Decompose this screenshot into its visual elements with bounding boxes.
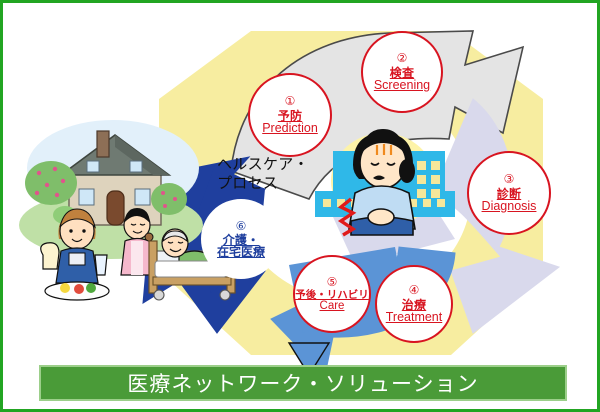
step-4-jp: 治療 bbox=[402, 299, 426, 311]
step-3-jp: 診断 bbox=[497, 188, 521, 200]
step-circle-3[interactable]: ③ 診断 Diagnosis bbox=[467, 151, 551, 235]
diagram-canvas: ヘルスケア・ プロセス ① 予防 Prediction ② 検査 Screeni… bbox=[0, 0, 600, 412]
step-circle-1[interactable]: ① 予防 Prediction bbox=[248, 73, 332, 157]
step-3-en: Diagnosis bbox=[482, 200, 537, 213]
step-5-en: Care bbox=[320, 301, 345, 313]
step-2-en: Screening bbox=[374, 79, 430, 92]
solution-banner-text: 医療ネットワーク・ソリューション bbox=[127, 368, 478, 398]
step-1-jp: 予防 bbox=[278, 110, 302, 122]
step-5-jp: 予後・リハビリ bbox=[295, 290, 369, 301]
step-circle-6[interactable]: ⑥ 介護・ 在宅医療 bbox=[201, 199, 281, 279]
process-caption-line1: ヘルスケア・ bbox=[217, 155, 337, 174]
step-2-number: ② bbox=[397, 52, 408, 65]
step-6-jp-line2: 在宅医療 bbox=[217, 246, 265, 258]
step-1-number: ① bbox=[285, 95, 296, 108]
solution-banner: 医療ネットワーク・ソリューション bbox=[39, 365, 567, 401]
step-circle-5[interactable]: ⑤ 予後・リハビリ Care bbox=[293, 255, 371, 333]
step-circle-2[interactable]: ② 検査 Screening bbox=[361, 31, 443, 113]
process-caption: ヘルスケア・ プロセス bbox=[217, 155, 337, 193]
step-circle-4[interactable]: ④ 治療 Treatment bbox=[375, 265, 453, 343]
step-6-number: ⑥ bbox=[236, 220, 247, 233]
step-3-number: ③ bbox=[504, 173, 515, 186]
step-2-jp: 検査 bbox=[390, 67, 414, 79]
step-1-en: Prediction bbox=[262, 122, 318, 135]
step-5-number: ⑤ bbox=[327, 276, 338, 289]
step-4-number: ④ bbox=[409, 284, 420, 297]
process-caption-line2: プロセス bbox=[217, 174, 337, 193]
step-4-en: Treatment bbox=[386, 311, 443, 324]
